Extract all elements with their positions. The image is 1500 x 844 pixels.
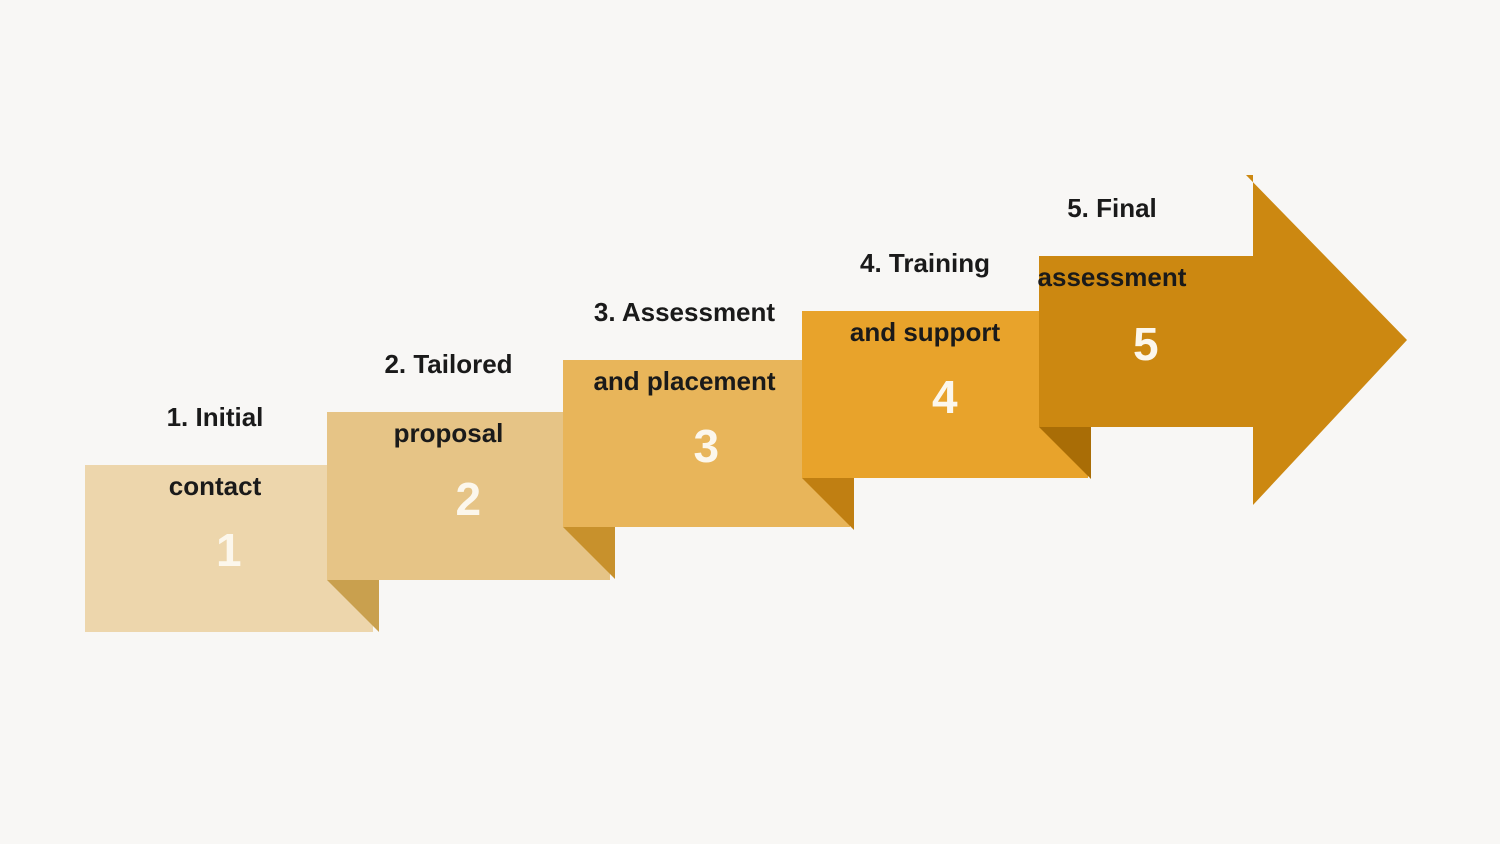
step-5-caption-line-2: assessment xyxy=(1005,260,1219,295)
step-5-caption-line-1: 5. Final xyxy=(1005,191,1219,226)
step-4-fold-shadow xyxy=(802,478,854,530)
step-5-fold-shadow xyxy=(1039,427,1091,479)
step-5-arrow-head xyxy=(1246,168,1414,512)
step-5-caption: 5. Final assessment xyxy=(1005,156,1219,329)
step-3-fold-shadow xyxy=(563,527,615,579)
process-step-5[interactable]: 5 5. Final assessment xyxy=(1039,256,1253,427)
step-2-fold-shadow xyxy=(327,580,379,632)
diagram-canvas: 1 1. Initial contact 2 2. Tailored propo… xyxy=(0,0,1500,844)
